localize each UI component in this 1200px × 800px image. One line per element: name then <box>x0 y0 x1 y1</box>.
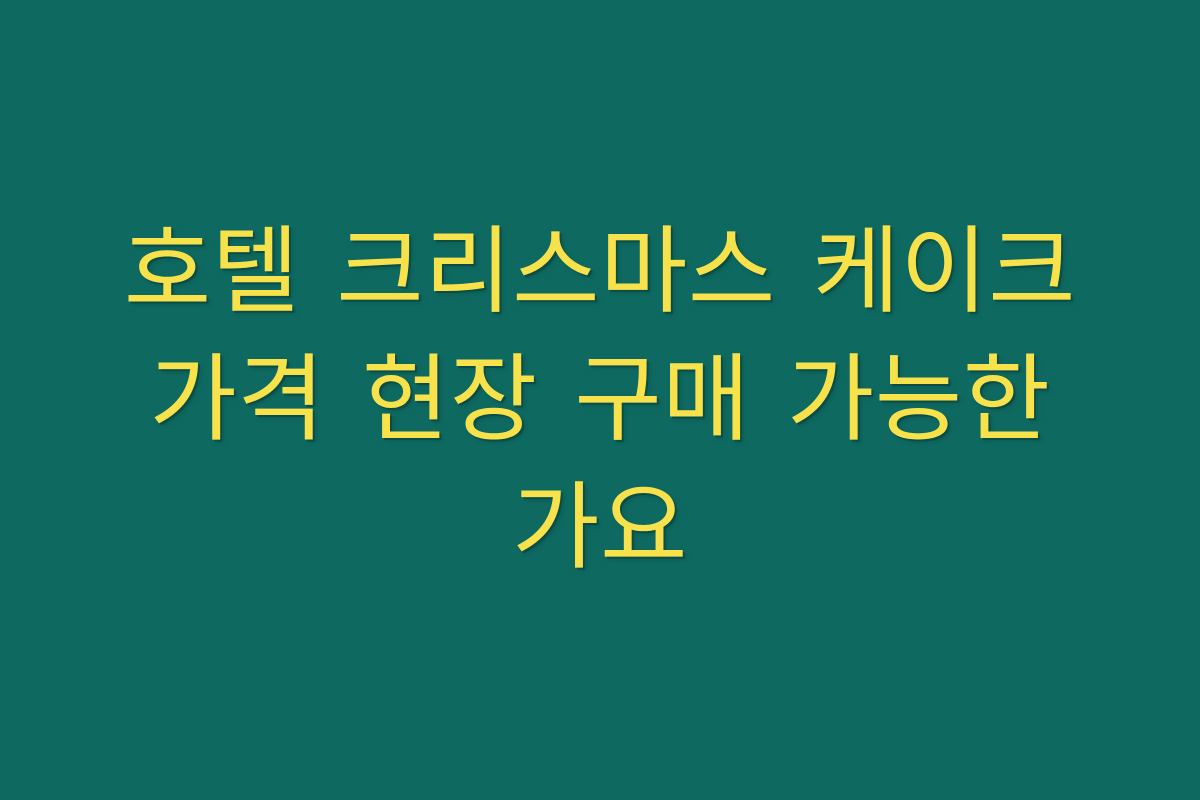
headline-text: 호텔 크리스마스 케이크 가격 현장 구매 가능한 가요 <box>80 208 1120 592</box>
headline-line-3: 가요 <box>80 464 1120 592</box>
headline-line-2: 가격 현장 구매 가능한 <box>80 336 1120 464</box>
headline-line-1: 호텔 크리스마스 케이크 <box>80 208 1120 336</box>
image-canvas: 호텔 크리스마스 케이크 가격 현장 구매 가능한 가요 <box>0 0 1200 800</box>
